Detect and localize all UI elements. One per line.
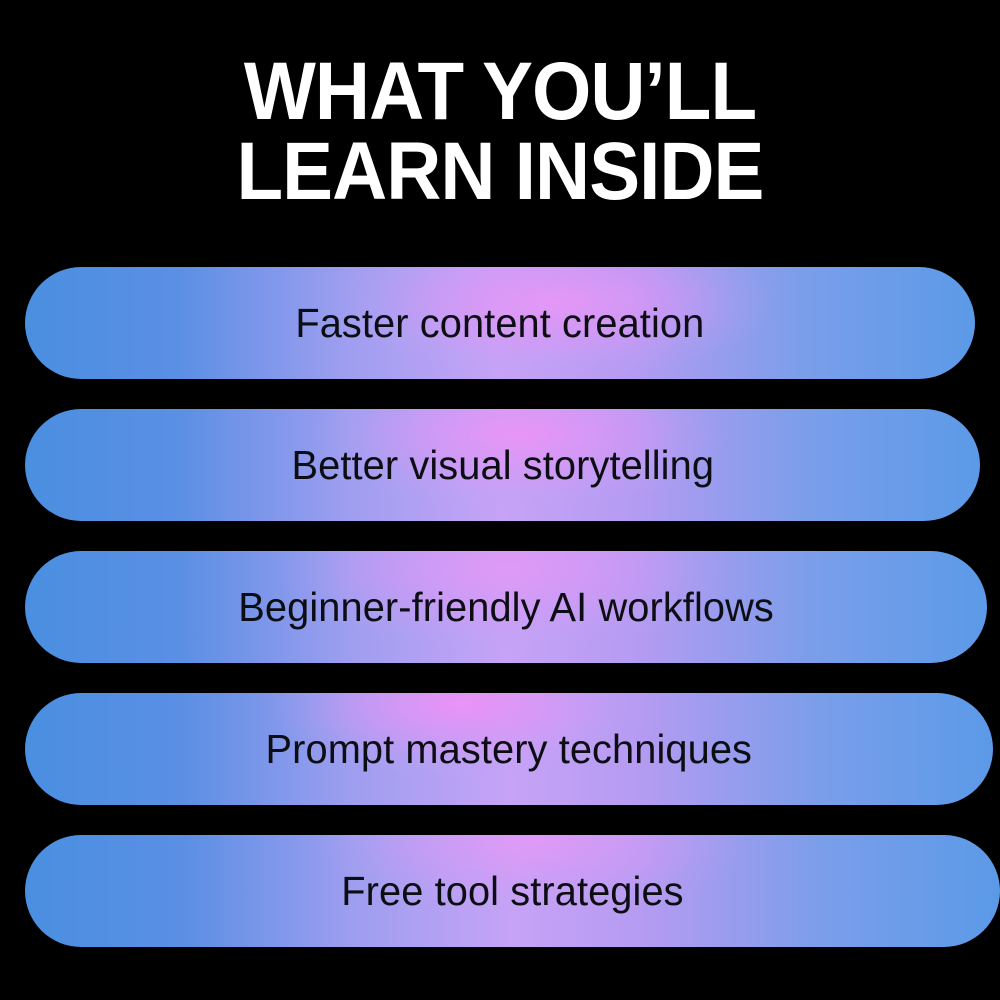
list-item[interactable]: Free tool strategies bbox=[25, 835, 1000, 947]
list-item[interactable]: Beginner-friendly AI workflows bbox=[25, 551, 987, 663]
list-item-label: Faster content creation bbox=[295, 300, 704, 347]
list-item[interactable]: Better visual storytelling bbox=[25, 409, 980, 521]
list-item[interactable]: Faster content creation bbox=[25, 267, 975, 379]
slide-canvas: WHAT YOU’LL LEARN INSIDE Faster content … bbox=[0, 0, 1000, 1000]
list-item[interactable]: Prompt mastery techniques bbox=[25, 693, 993, 805]
list-item-label: Prompt mastery techniques bbox=[266, 726, 753, 773]
list-item-label: Free tool strategies bbox=[341, 868, 683, 915]
list-item-label: Better visual storytelling bbox=[291, 442, 713, 489]
list-item-label: Beginner-friendly AI workflows bbox=[238, 584, 774, 631]
benefits-list: Faster content creation Better visual st… bbox=[0, 267, 1000, 947]
page-title: WHAT YOU’LL LEARN INSIDE bbox=[35, 52, 965, 211]
